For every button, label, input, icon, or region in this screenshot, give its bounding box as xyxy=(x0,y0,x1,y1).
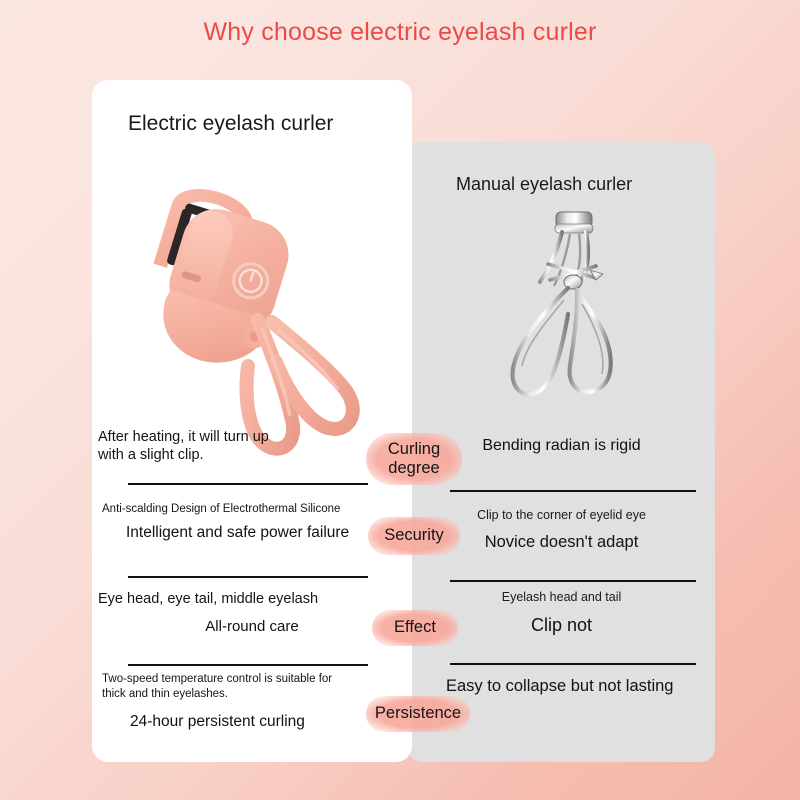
electric-row3-line1: Two-speed temperature control is suitabl… xyxy=(102,672,347,702)
electric-comparison-column: After heating, it will turn up with a sl… xyxy=(92,424,412,762)
electric-row2-line1: Eye head, eye tail, middle eyelash xyxy=(98,590,412,608)
divider-right-3 xyxy=(450,663,696,665)
electric-row1-line1: Anti-scalding Design of Electrothermal S… xyxy=(102,502,412,517)
divider-left-2 xyxy=(128,576,368,578)
divider-right-2 xyxy=(450,580,696,582)
electric-eyelash-curler-image xyxy=(112,170,402,460)
manual-panel-heading: Manual eyelash curler xyxy=(456,174,632,195)
manual-eyelash-curler-image xyxy=(478,204,643,419)
comparison-cell-electric-effect: Eye head, eye tail, middle eyelash All-r… xyxy=(92,590,412,666)
electric-panel-heading: Electric eyelash curler xyxy=(128,112,333,136)
criterion-badge-effect: Effect xyxy=(372,610,458,646)
electric-row0-line2: with a slight clip. xyxy=(98,446,412,464)
divider-right-1 xyxy=(450,490,696,492)
criterion-badge-curling-degree: Curling degree xyxy=(366,433,462,485)
divider-left-3 xyxy=(128,664,368,666)
manual-row3-line1: Easy to collapse but not lasting xyxy=(408,676,715,697)
electric-row0-line1: After heating, it will turn up xyxy=(98,428,412,446)
manual-row2-line1: Eyelash head and tail xyxy=(408,590,715,606)
criterion-badge-persistence: Persistence xyxy=(366,696,470,732)
divider-left-1 xyxy=(128,483,368,485)
electric-row2-line2: All-round care xyxy=(92,618,412,637)
comparison-cell-electric-curling-degree: After heating, it will turn up with a sl… xyxy=(92,428,412,490)
page-title: Why choose electric eyelash curler xyxy=(0,18,800,47)
criterion-badge-security: Security xyxy=(368,517,460,555)
comparison-cell-electric-persistence: Two-speed temperature control is suitabl… xyxy=(92,672,412,762)
comparison-cell-electric-security: Anti-scalding Design of Electrothermal S… xyxy=(92,502,412,584)
